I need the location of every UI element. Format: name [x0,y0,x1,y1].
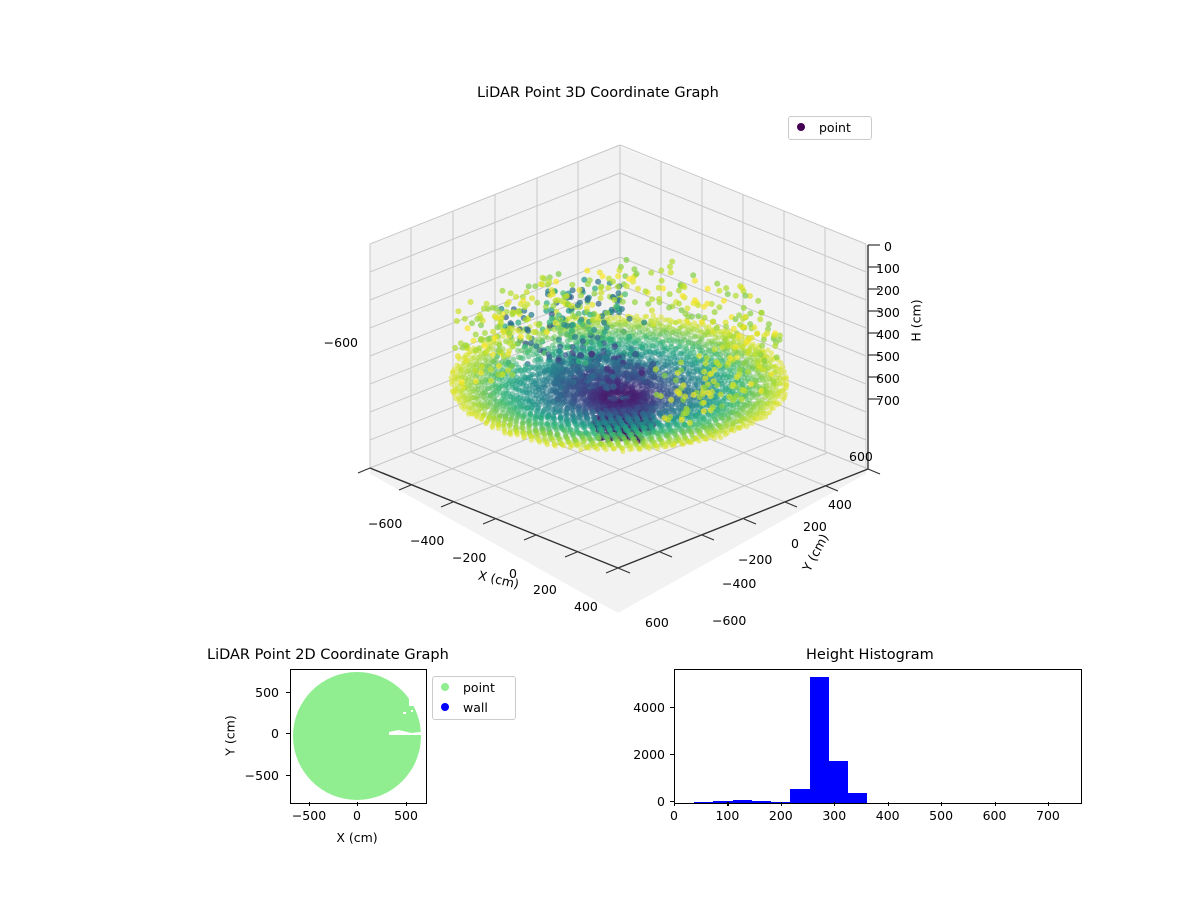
scan-shadow-notch-upper [409,697,427,706]
hist-ytickmark-2 [670,707,674,708]
ytick3d-3: 0 [791,536,799,551]
hist-xtickmark [1048,802,1049,806]
plot3d-xtick-0: −600 [324,335,358,350]
ytick3d-2: −200 [738,552,772,567]
hist-xtickmark [941,802,942,806]
plot2d-ytickmark-1 [286,733,290,734]
legend-item-point: point [789,117,871,137]
hist-xtick: 500 [929,808,953,823]
ytick3d-1: −400 [722,576,756,591]
hist-xtick: 400 [876,808,900,823]
histogram-bar [790,789,809,803]
plot2d-ylabel: Y (cm) [223,715,238,755]
histogram-bar [733,800,752,803]
hist-xtickmark [727,802,728,806]
histogram-bar [752,801,771,803]
ytick3d-0: −600 [712,613,746,628]
ztick3d-2: 200 [876,283,900,298]
plot2d-xtickmark-2 [406,802,407,806]
ztick3d-6: 600 [876,371,900,386]
ztick3d-1: 100 [876,261,900,276]
xtick3d-0: −600 [368,516,402,531]
hist-xtickmark [781,802,782,806]
ztick3d-4: 400 [876,327,900,342]
plot2d-ytickmark-2 [286,775,290,776]
plot2d-title: LiDAR Point 2D Coordinate Graph [207,647,449,663]
hist-xtick: 700 [1036,808,1060,823]
legend-label: wall [463,700,488,715]
plot2d-xtick-2: 500 [394,808,418,823]
point-marker-icon [797,123,805,131]
hist-xtickmark [674,802,675,806]
plot2d-ytick-1: 0 [271,726,279,741]
plot2d-axes[interactable] [290,669,427,804]
matplotlib-figure: LiDAR Point 3D Coordinate Graph point [0,0,1200,900]
hist-ytick-2: 4000 [633,700,665,715]
ytick3d-6: 600 [849,449,873,464]
histogram-axes[interactable] [674,669,1082,804]
plot2d-xtickmark-0 [309,802,310,806]
hist-xtick: 600 [983,808,1007,823]
histogram-bar [713,801,732,803]
histogram-title: Height Histogram [806,647,934,663]
hist-xtick: 200 [769,808,793,823]
hist-xtick: 0 [670,808,678,823]
scan-shadow-speck [403,712,406,714]
plot2d-ytickmark-0 [286,692,290,693]
hist-xtickmark [834,802,835,806]
plot2d-xtickmark-1 [357,802,358,806]
plot3d-legend: point [788,116,872,140]
point-cloud-disc [293,672,421,800]
hist-xtickmark [888,802,889,806]
hist-xtick: 300 [822,808,846,823]
ytick3d-4: 200 [803,519,827,534]
hist-xtick: 100 [715,808,739,823]
hist-ytickmark-1 [670,754,674,755]
plot2d-xtick-0: −500 [292,808,326,823]
hist-ytick-1: 2000 [633,747,665,762]
hist-xtickmark [995,802,996,806]
xtick3d-1: −400 [410,533,444,548]
plot2d-xtick-1: 0 [353,808,361,823]
plot3d-zlabel: H (cm) [909,299,924,341]
histogram-bar [848,793,867,803]
ytick3d-5: 400 [828,497,852,512]
legend-label: point [463,680,495,695]
xtick3d-5: 400 [574,599,598,614]
wall-marker-icon [441,703,449,711]
hist-ytick-0: 0 [657,794,665,809]
ztick3d-3: 300 [876,305,900,320]
legend-item-point: point [433,677,515,697]
legend-item-wall: wall [433,697,515,717]
point-marker-icon [441,683,449,691]
histogram-bar [810,677,829,803]
plot3d-title: LiDAR Point 3D Coordinate Graph [477,85,719,101]
histogram-bar [829,761,848,803]
xtick3d-6: 600 [645,615,669,630]
scan-shadow-speck-2 [411,710,413,712]
plot2d-legend: point wall [432,676,516,720]
xtick3d-2: −200 [452,550,486,565]
histogram-bar [694,802,713,803]
plot2d-xlabel: X (cm) [336,830,377,845]
legend-label: point [819,120,851,135]
ztick3d-5: 500 [876,349,900,364]
plot2d-ytick-0: 500 [255,685,279,700]
xtick3d-4: 200 [533,582,557,597]
plot2d-ytick-2: −500 [245,768,279,783]
histogram-bars [675,670,1081,803]
ztick3d-0: 0 [884,239,892,254]
ztick3d-7: 700 [876,393,900,408]
